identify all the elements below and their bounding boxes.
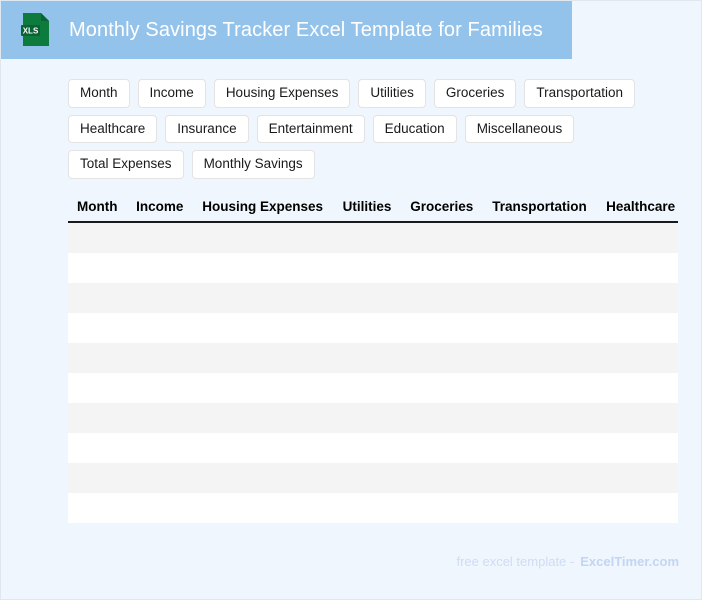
table-cell[interactable]	[193, 433, 333, 463]
table-cell[interactable]	[483, 373, 597, 403]
table-cell[interactable]	[597, 253, 678, 283]
chip-monthly-savings[interactable]: Monthly Savings	[192, 150, 315, 179]
table-header-housing-expenses[interactable]: Housing Expenses	[193, 197, 333, 222]
table-cell[interactable]	[401, 433, 483, 463]
svg-text:XLS: XLS	[23, 27, 39, 36]
table-cell[interactable]	[127, 253, 193, 283]
page-title: Monthly Savings Tracker Excel Template f…	[69, 19, 543, 42]
xls-file-icon: XLS	[21, 12, 51, 48]
table-cell[interactable]	[334, 463, 402, 493]
table-row[interactable]	[68, 222, 678, 253]
table-cell[interactable]	[597, 343, 678, 373]
table-cell[interactable]	[401, 253, 483, 283]
table-cell[interactable]	[68, 222, 127, 253]
table-cell[interactable]	[483, 343, 597, 373]
chip-income[interactable]: Income	[138, 79, 206, 108]
table-cell[interactable]	[334, 373, 402, 403]
header-banner: XLS Monthly Savings Tracker Excel Templa…	[1, 1, 572, 59]
table-row[interactable]	[68, 493, 678, 523]
table-cell[interactable]	[597, 403, 678, 433]
table-row[interactable]	[68, 403, 678, 433]
table-cell[interactable]	[483, 493, 597, 523]
footer-text: free excel template -	[456, 554, 574, 569]
chip-insurance[interactable]: Insurance	[165, 115, 248, 144]
table-cell[interactable]	[68, 283, 127, 313]
table-cell[interactable]	[68, 463, 127, 493]
table-row[interactable]	[68, 343, 678, 373]
table-cell[interactable]	[334, 313, 402, 343]
table-cell[interactable]	[193, 313, 333, 343]
page-root: XLS Monthly Savings Tracker Excel Templa…	[1, 1, 701, 599]
table-header-healthcare[interactable]: Healthcare	[597, 197, 678, 222]
table-cell[interactable]	[193, 373, 333, 403]
table-cell[interactable]	[597, 373, 678, 403]
table-cell[interactable]	[68, 313, 127, 343]
table-row[interactable]	[68, 313, 678, 343]
table-body	[68, 222, 678, 523]
chip-total-expenses[interactable]: Total Expenses	[68, 150, 184, 179]
chip-utilities[interactable]: Utilities	[358, 79, 426, 108]
table-cell[interactable]	[193, 253, 333, 283]
table-cell[interactable]	[127, 283, 193, 313]
table-cell[interactable]	[483, 283, 597, 313]
chip-healthcare[interactable]: Healthcare	[68, 115, 157, 144]
table-cell[interactable]	[127, 463, 193, 493]
table-cell[interactable]	[68, 343, 127, 373]
table-cell[interactable]	[597, 313, 678, 343]
table-cell[interactable]	[401, 373, 483, 403]
table-cell[interactable]	[127, 343, 193, 373]
table-cell[interactable]	[334, 283, 402, 313]
table-header-transportation[interactable]: Transportation	[483, 197, 597, 222]
table-cell[interactable]	[483, 313, 597, 343]
data-table-container: Month Income Housing Expenses Utilities …	[68, 197, 678, 523]
table-header-income[interactable]: Income	[127, 197, 193, 222]
table-cell[interactable]	[401, 403, 483, 433]
table-cell[interactable]	[401, 313, 483, 343]
table-cell[interactable]	[401, 493, 483, 523]
table-row[interactable]	[68, 433, 678, 463]
table-cell[interactable]	[483, 433, 597, 463]
chip-housing-expenses[interactable]: Housing Expenses	[214, 79, 351, 108]
table-cell[interactable]	[401, 283, 483, 313]
table-cell[interactable]	[193, 493, 333, 523]
table-cell[interactable]	[597, 222, 678, 253]
table-cell[interactable]	[127, 222, 193, 253]
table-cell[interactable]	[68, 493, 127, 523]
table-row[interactable]	[68, 463, 678, 493]
table-cell[interactable]	[127, 313, 193, 343]
table-cell[interactable]	[401, 343, 483, 373]
chip-groceries[interactable]: Groceries	[434, 79, 517, 108]
table-cell[interactable]	[597, 283, 678, 313]
table-cell[interactable]	[127, 373, 193, 403]
table-cell[interactable]	[597, 493, 678, 523]
chip-education[interactable]: Education	[373, 115, 457, 144]
table-header-month[interactable]: Month	[68, 197, 127, 222]
table-cell[interactable]	[401, 222, 483, 253]
table-cell[interactable]	[68, 373, 127, 403]
table-header-utilities[interactable]: Utilities	[334, 197, 402, 222]
table-row[interactable]	[68, 253, 678, 283]
footer-brand[interactable]: ExcelTimer.com	[580, 554, 679, 569]
table-cell[interactable]	[483, 463, 597, 493]
data-table: Month Income Housing Expenses Utilities …	[68, 197, 678, 523]
table-cell[interactable]	[68, 433, 127, 463]
chip-month[interactable]: Month	[68, 79, 130, 108]
table-cell[interactable]	[68, 403, 127, 433]
table-cell[interactable]	[127, 433, 193, 463]
table-cell[interactable]	[334, 403, 402, 433]
table-cell[interactable]	[334, 343, 402, 373]
table-cell[interactable]	[193, 463, 333, 493]
table-cell[interactable]	[483, 222, 597, 253]
footer-credit: free excel template -ExcelTimer.com	[456, 554, 679, 569]
table-row[interactable]	[68, 283, 678, 313]
table-cell[interactable]	[334, 493, 402, 523]
table-cell[interactable]	[193, 343, 333, 373]
table-cell[interactable]	[193, 222, 333, 253]
table-cell[interactable]	[334, 253, 402, 283]
table-header-groceries[interactable]: Groceries	[401, 197, 483, 222]
table-cell[interactable]	[193, 283, 333, 313]
table-header-row: Month Income Housing Expenses Utilities …	[68, 197, 678, 222]
table-cell[interactable]	[483, 253, 597, 283]
chip-transportation[interactable]: Transportation	[524, 79, 635, 108]
table-cell[interactable]	[193, 403, 333, 433]
chip-miscellaneous[interactable]: Miscellaneous	[465, 115, 575, 144]
column-chip-list: Month Income Housing Expenses Utilities …	[68, 79, 668, 179]
table-cell[interactable]	[597, 463, 678, 493]
table-head: Month Income Housing Expenses Utilities …	[68, 197, 678, 222]
chip-entertainment[interactable]: Entertainment	[257, 115, 365, 144]
table-cell[interactable]	[334, 222, 402, 253]
table-row[interactable]	[68, 373, 678, 403]
table-cell[interactable]	[334, 433, 402, 463]
table-cell[interactable]	[483, 403, 597, 433]
table-cell[interactable]	[401, 463, 483, 493]
table-cell[interactable]	[597, 433, 678, 463]
table-cell[interactable]	[68, 253, 127, 283]
table-cell[interactable]	[127, 493, 193, 523]
table-cell[interactable]	[127, 403, 193, 433]
